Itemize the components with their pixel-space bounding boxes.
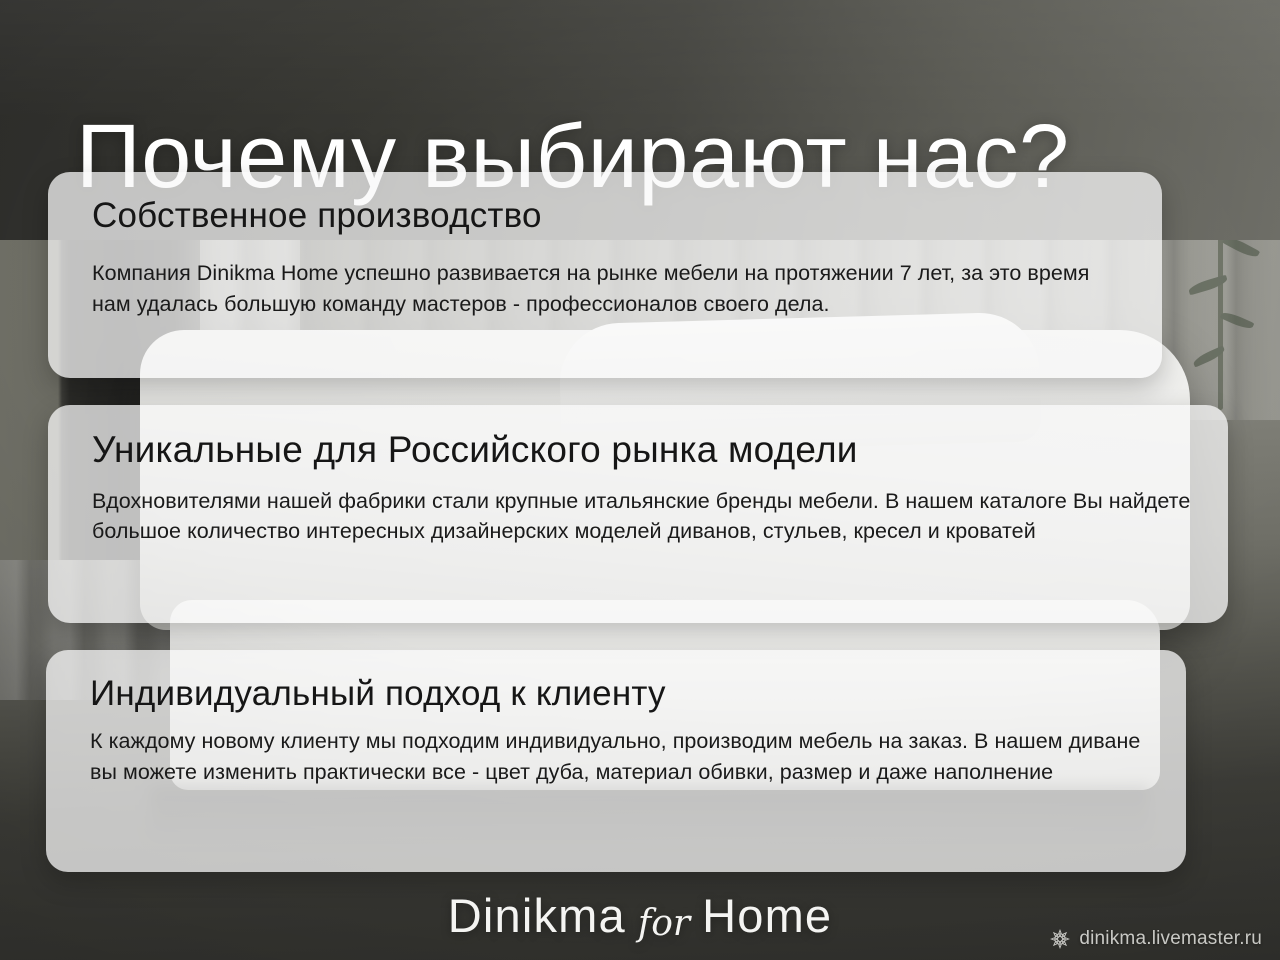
benefit-card-body: Вдохновителями нашей фабрики стали крупн… [92,486,1192,547]
watermark: dinikma.livemaster.ru [1050,928,1262,950]
benefit-card-own-production: Собственное производство Компания Dinikm… [48,172,1162,378]
benefit-card-title: Уникальные для Российского рынка модели [92,429,1192,472]
benefit-card-title: Собственное производство [92,196,1126,236]
star-ornament-icon [1050,929,1070,949]
brand-logo-name: Dinikma [448,889,626,942]
benefit-card-title: Индивидуальный подход к клиенту [90,674,1150,714]
benefit-card-individual-approach: Индивидуальный подход к клиенту К каждом… [46,650,1186,872]
brand-logo-connector: for [626,903,702,944]
promo-banner: Почему выбирают нас? Собственное произво… [0,0,1280,960]
watermark-text: dinikma.livemaster.ru [1079,928,1262,950]
benefit-card-body: К каждому новому клиенту мы подходим инд… [90,726,1150,787]
benefit-card-body: Компания Dinikma Home успешно развиваетс… [92,258,1126,319]
benefit-card-unique-models: Уникальные для Российского рынка модели … [48,405,1228,623]
brand-logo-suffix: Home [702,889,832,942]
